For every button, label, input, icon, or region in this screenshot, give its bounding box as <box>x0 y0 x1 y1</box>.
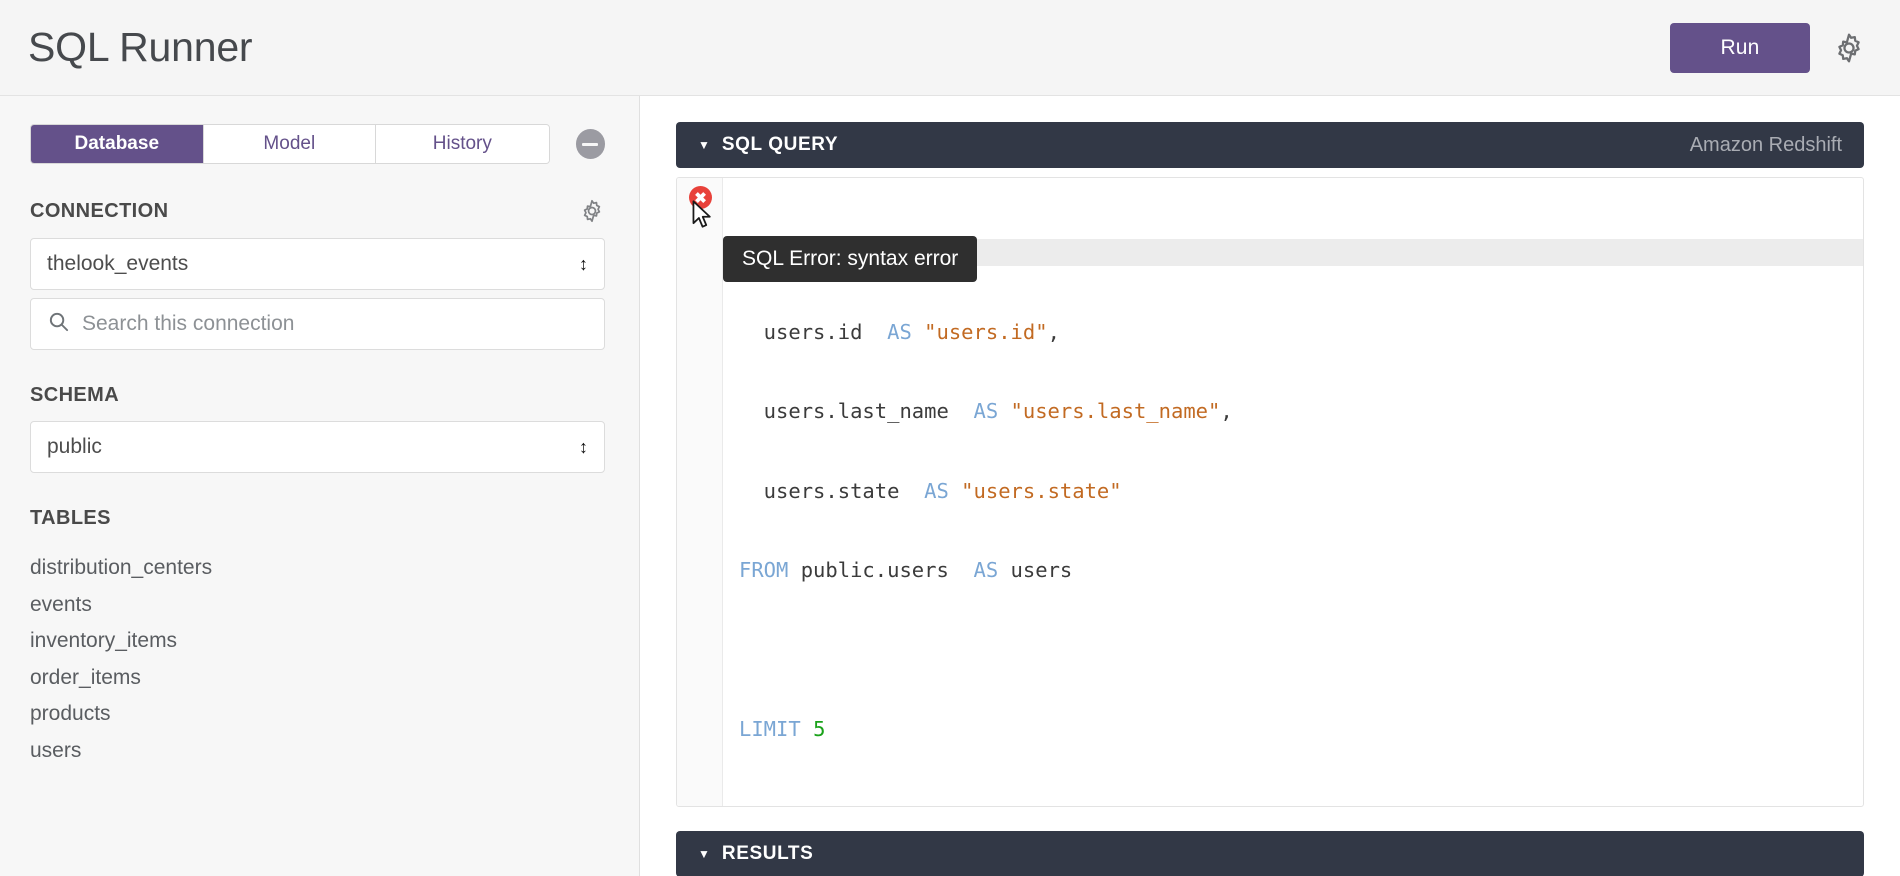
search-input-placeholder: Search this connection <box>82 312 294 336</box>
list-item[interactable]: distribution_centers <box>30 550 605 587</box>
minus-circle-icon[interactable] <box>576 129 605 159</box>
sql-keyword: AS <box>887 320 912 344</box>
chevron-down-icon[interactable]: ▼ <box>698 139 710 151</box>
list-item[interactable]: events <box>30 587 605 624</box>
connection-heading: CONNECTION <box>30 200 168 223</box>
editor-gutter: ✖ <box>677 178 723 806</box>
connection-gear-icon[interactable] <box>579 198 605 224</box>
list-item[interactable]: inventory_items <box>30 623 605 660</box>
list-item[interactable]: users <box>30 733 605 770</box>
run-button[interactable]: Run <box>1670 23 1810 73</box>
code-line-3: users.last_name AS "users.last_name", <box>739 398 1863 425</box>
list-item[interactable]: order_items <box>30 660 605 697</box>
tables-list: distribution_centers events inventory_it… <box>30 550 605 769</box>
error-icon[interactable]: ✖ <box>689 186 712 209</box>
code-line-6 <box>739 637 1863 664</box>
sql-keyword: FROM <box>739 558 788 582</box>
schema-select-value: public <box>47 435 102 459</box>
tab-database[interactable]: Database <box>31 125 204 163</box>
sql-keyword: AS <box>974 558 999 582</box>
chevron-updown-icon: ↕ <box>579 438 588 456</box>
sql-query-header[interactable]: ▼ SQL QUERY Amazon Redshift <box>676 122 1864 168</box>
search-icon <box>47 310 70 338</box>
main-panel: ▼ SQL QUERY Amazon Redshift ✖ SELcECT us… <box>640 96 1900 876</box>
sql-alias: "users.last_name" <box>1011 399 1221 423</box>
chevron-updown-icon: ↕ <box>579 255 588 273</box>
tab-model[interactable]: Model <box>204 125 377 163</box>
connection-select[interactable]: thelook_events ↕ <box>30 238 605 290</box>
results-title: RESULTS <box>722 843 813 865</box>
tab-history[interactable]: History <box>376 125 549 163</box>
sql-dialect-label: Amazon Redshift <box>1690 134 1842 157</box>
top-bar-actions: Run <box>1670 23 1866 73</box>
code-line-2: users.id AS "users.id", <box>739 319 1863 346</box>
results-header[interactable]: ▼ RESULTS <box>676 831 1864 876</box>
connection-select-value: thelook_events <box>47 252 188 276</box>
sql-keyword: AS <box>924 479 949 503</box>
chevron-down-icon[interactable]: ▼ <box>698 848 710 860</box>
sql-alias: "users.id" <box>924 320 1047 344</box>
sql-keyword: LIMIT <box>739 717 801 741</box>
code-line-4: users.state AS "users.state" <box>739 478 1863 505</box>
sql-number: 5 <box>813 717 825 741</box>
tables-heading: TABLES <box>30 507 605 530</box>
sql-error-tooltip: SQL Error: syntax error <box>723 236 977 282</box>
sql-editor[interactable]: ✖ SELcECT users.id AS "users.id", users.… <box>676 177 1864 807</box>
top-bar: SQL Runner Run <box>0 0 1900 96</box>
sql-keyword: AS <box>974 399 999 423</box>
sidebar-tabs-row: Database Model History <box>30 124 605 164</box>
schema-select[interactable]: public ↕ <box>30 421 605 473</box>
connection-search[interactable]: Search this connection <box>30 298 605 350</box>
minus-bar <box>582 143 598 146</box>
sql-runner-app: SQL Runner Run Database Model History <box>0 0 1900 876</box>
sidebar-tabs: Database Model History <box>30 124 550 164</box>
list-item[interactable]: products <box>30 696 605 733</box>
body: Database Model History CONNECTION <box>0 96 1900 876</box>
sql-query-title: SQL QUERY <box>722 134 838 156</box>
page-title: SQL Runner <box>28 27 252 68</box>
schema-heading-row: SCHEMA <box>30 384 605 407</box>
sidebar: Database Model History CONNECTION <box>0 96 640 876</box>
code-line-7: LIMIT 5 <box>739 716 1863 743</box>
connection-heading-row: CONNECTION <box>30 198 605 224</box>
sql-alias: "users.state" <box>961 479 1121 503</box>
schema-heading: SCHEMA <box>30 384 119 407</box>
code-line-5: FROM public.users AS users <box>739 557 1863 584</box>
gear-icon[interactable] <box>1832 31 1866 65</box>
